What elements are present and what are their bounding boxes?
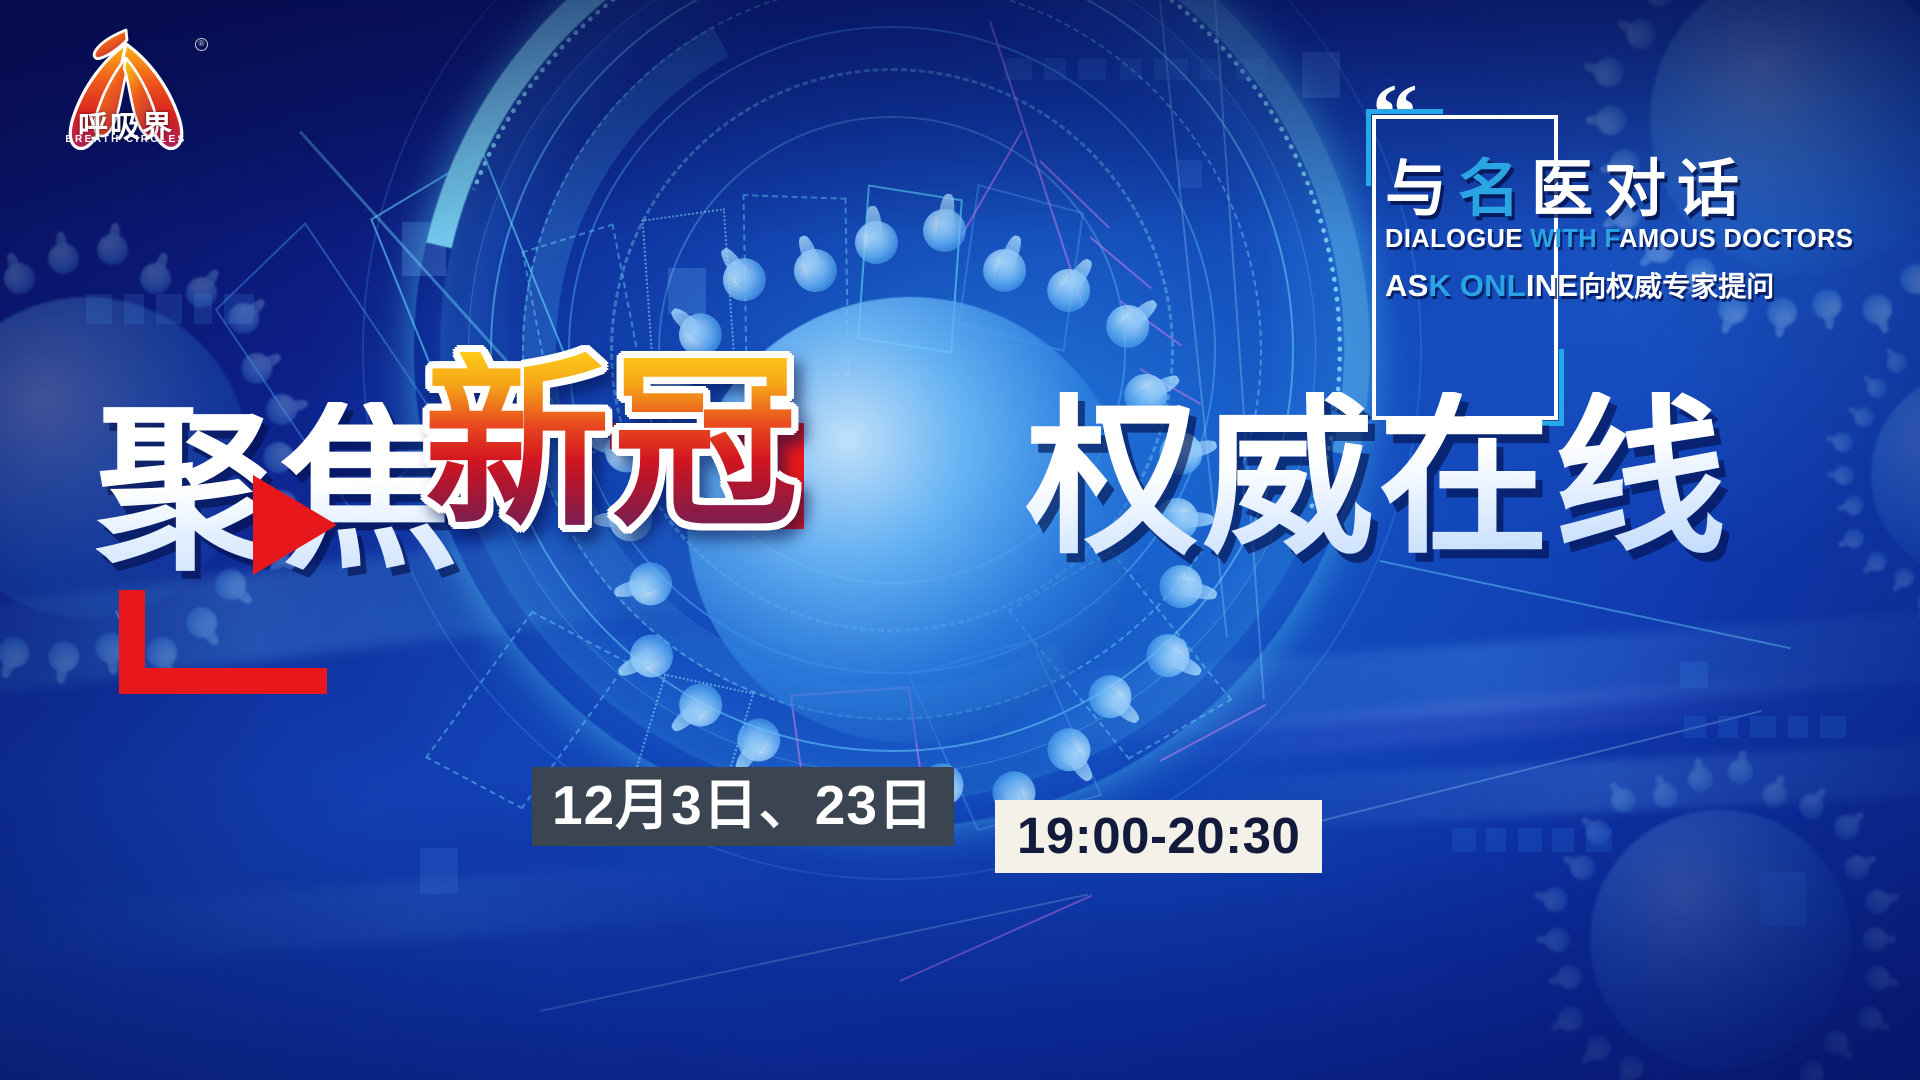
pixel-block <box>1820 716 1846 738</box>
virus-spike <box>1606 783 1641 818</box>
callout-ask-part-1: K ONL <box>1428 268 1525 303</box>
callout-ask-cn: 向权威专家提问 <box>1578 271 1774 302</box>
virus-spike <box>1818 1025 1854 1061</box>
virus-spike <box>142 633 182 673</box>
callout-title: 与名医对话 <box>1385 158 1920 221</box>
pixel-block <box>1004 58 1032 80</box>
virus-spike <box>625 558 678 611</box>
virus-spike <box>93 630 128 665</box>
pixel-block <box>1044 58 1066 80</box>
pixel-block <box>1552 828 1574 852</box>
virus-spike <box>1829 810 1865 846</box>
virus-spike <box>1862 927 1887 952</box>
pixel-block <box>1236 58 1266 80</box>
promo-banner: 呼吸界 BREATH CIRCLES ® “ 与名医对话 DIALOGUE WI… <box>0 0 1920 1080</box>
virus-spike <box>1759 779 1791 811</box>
light-streak <box>1120 670 1821 771</box>
schedule-date-chip: 12月3日、23日 <box>532 767 954 846</box>
virus-spike <box>1862 886 1892 916</box>
virus-spike <box>1155 561 1208 614</box>
hud-ray <box>1089 236 1152 289</box>
virus-spike <box>1554 962 1584 992</box>
pixel-block <box>668 268 706 314</box>
virus-spike <box>1841 525 1868 552</box>
callout-title-part-1: 名 <box>1458 155 1531 224</box>
virus-spike <box>1155 427 1208 480</box>
virus-spike <box>0 633 33 673</box>
virus-spike <box>1155 498 1198 541</box>
pixel-block <box>1518 828 1542 852</box>
virus-spike <box>1794 789 1829 824</box>
virus-spike <box>252 534 294 576</box>
virus-spike <box>1726 758 1754 786</box>
virus-spike <box>609 498 652 541</box>
pixel-block <box>420 848 458 894</box>
virus-spike <box>263 487 301 525</box>
pixel-block <box>1684 716 1706 738</box>
virus-spike <box>1794 1056 1829 1080</box>
virus-spike <box>1890 564 1918 592</box>
callout-text-group: 与名医对话 DIALOGUE WITH FAMOUS DOCTORS ASK O… <box>1385 158 1920 305</box>
virus-spike <box>135 259 175 299</box>
callout-subtitle-part-1: WITH F <box>1530 225 1619 253</box>
bracket-bottom-left-horizontal <box>119 668 327 694</box>
virus-spike <box>1862 964 1892 994</box>
pixel-block <box>1154 58 1188 80</box>
callout-subtitle-part-0: DIALOGUE <box>1385 225 1530 253</box>
pixel-block <box>402 222 446 276</box>
play-button-icon <box>253 475 337 575</box>
pixel-block <box>224 294 254 324</box>
virus-spike <box>1581 1030 1617 1066</box>
virus-spike <box>1863 547 1892 576</box>
virus-spike <box>1566 851 1600 885</box>
virus-particle-right <box>1830 330 1920 620</box>
virus-spike <box>1863 374 1892 403</box>
callout-ask-line: ASK ONLINE向权威专家提问 <box>1385 265 1920 305</box>
hud-ray <box>1159 1 1228 638</box>
virus-spike <box>1686 765 1714 793</box>
light-streak <box>0 501 842 710</box>
virus-spike <box>1615 1050 1650 1080</box>
hud-ray <box>1380 560 1791 649</box>
virus-spike <box>1540 884 1570 914</box>
pixel-block <box>1078 58 1106 80</box>
schedule-time-chip: 19:00-20:30 <box>995 800 1322 873</box>
virus-spike <box>263 442 294 473</box>
virus-spike <box>46 241 81 276</box>
virus-spike <box>1851 403 1878 430</box>
virus-spike <box>1596 105 1626 135</box>
pixel-block <box>156 294 182 324</box>
hud-ray <box>1119 300 1182 346</box>
callout-title-part-2: 医对话 <box>1531 155 1750 224</box>
hud-fan-segment <box>742 194 849 376</box>
brand-logo[interactable]: 呼吸界 BREATH CIRCLES ® <box>40 14 212 164</box>
callout-ask-part-2: INE <box>1526 268 1578 303</box>
virus-spike <box>1621 14 1662 55</box>
virus-spike <box>1853 1002 1887 1036</box>
virus-spike <box>1840 851 1874 885</box>
virus-spike <box>1545 927 1570 952</box>
bracket-top-right-vertical <box>778 423 804 529</box>
virus-spike <box>1117 367 1176 426</box>
pixel-block <box>1788 716 1808 738</box>
pixel-block <box>1680 662 1708 688</box>
pixel-block <box>1452 828 1476 852</box>
logo-text-en: BREATH CIRCLES <box>40 134 212 145</box>
virus-spike <box>1649 779 1681 811</box>
callout-subtitle-part-2: AMOUS DOCTORS <box>1619 225 1853 253</box>
callout-ask-part-0: AS <box>1385 268 1428 303</box>
virus-spike <box>0 259 40 299</box>
trademark-icon: ® <box>195 38 208 51</box>
virus-spike <box>95 233 130 268</box>
pixel-block <box>1200 58 1222 80</box>
callout-subtitle: DIALOGUE WITH FAMOUS DOCTORS <box>1385 225 1920 254</box>
virus-spike <box>46 639 81 674</box>
virus-spike <box>1883 349 1911 377</box>
hud-ray <box>115 611 136 654</box>
pixel-block <box>1302 52 1340 98</box>
pixel-block <box>1120 58 1142 80</box>
pixel-block <box>1178 160 1202 188</box>
hud-fan-segment <box>522 223 655 462</box>
virus-spike <box>180 601 223 644</box>
pixel-block <box>1718 716 1738 738</box>
virus-spike <box>1830 430 1855 455</box>
pixel-block <box>1486 828 1506 852</box>
hud-ray <box>540 894 1088 1012</box>
pixel-block <box>124 294 144 324</box>
virus-spike <box>1591 53 1627 89</box>
virus-spike <box>1553 1002 1587 1036</box>
pixel-block <box>1760 872 1806 926</box>
virus-spike <box>1914 589 1920 615</box>
pixel-block <box>1750 716 1776 738</box>
virus-spike <box>1639 0 1681 13</box>
virus-spike <box>1834 465 1854 485</box>
pixel-block <box>194 294 212 324</box>
callout-title-part-0: 与 <box>1385 155 1458 224</box>
pixel-block <box>86 294 112 324</box>
hud-fan-segment <box>857 184 963 353</box>
virus-spike <box>209 562 253 606</box>
pixel-block <box>1586 828 1612 852</box>
virus-particle-bottom-right <box>1540 760 1900 1080</box>
hud-ray <box>900 895 1093 982</box>
bracket-bottom-left-vertical <box>119 590 145 694</box>
hud-ray <box>1140 368 1202 405</box>
virus-spike <box>1842 493 1867 518</box>
